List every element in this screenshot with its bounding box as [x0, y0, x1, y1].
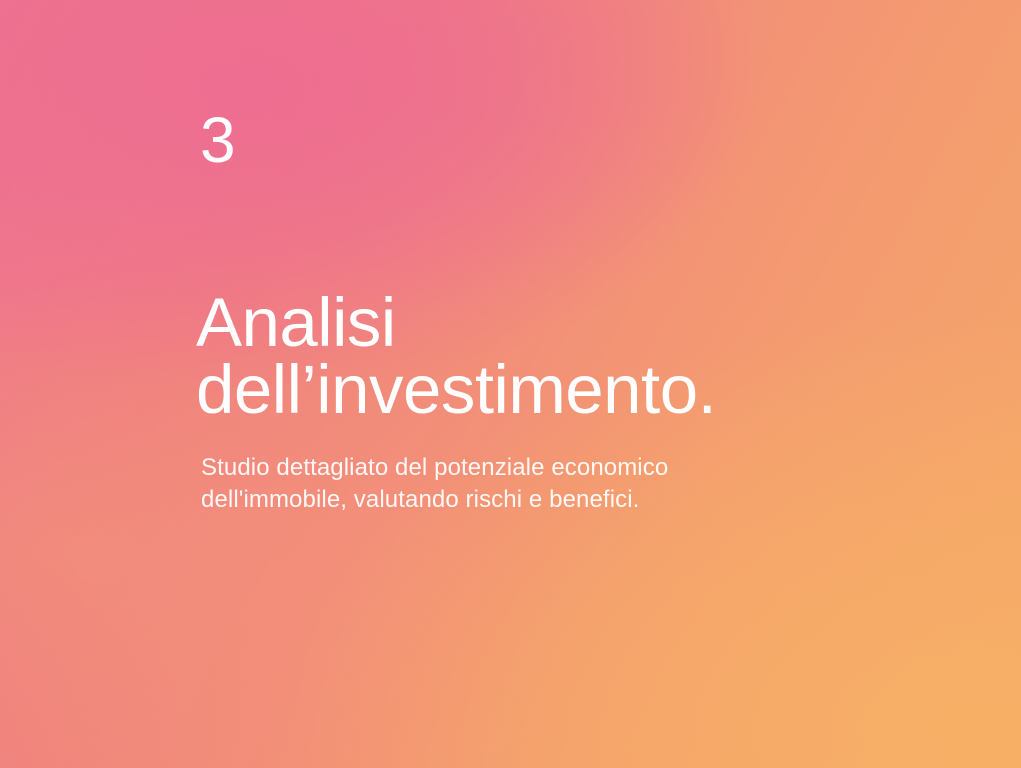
slide-subtitle: Studio dettagliato del potenziale econom…	[201, 452, 668, 516]
section-number: 3	[200, 108, 236, 172]
slide-divider: 3 Analisi dell’investimento. Studio dett…	[0, 0, 1021, 768]
slide-content: 3 Analisi dell’investimento. Studio dett…	[200, 0, 980, 768]
page-title: Analisi dell’investimento.	[196, 289, 716, 423]
